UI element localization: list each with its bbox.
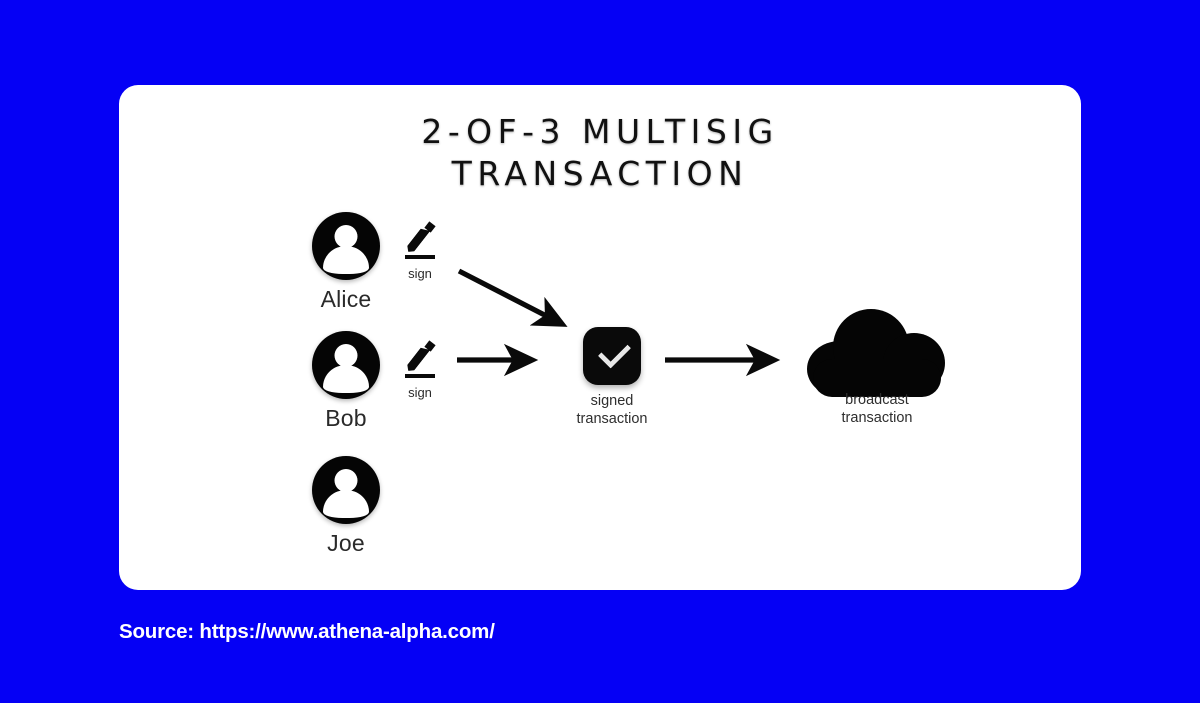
arrow-alice-to-signed: [459, 271, 562, 324]
person-avatar-icon: [312, 456, 380, 524]
signer-row-joe: Joe: [312, 456, 380, 557]
signer-row-bob: Bob: [312, 331, 380, 432]
signature-line: [405, 374, 435, 378]
pen-sign-icon: [403, 342, 437, 384]
page-title: 2-OF-3 MULTISIG TRANSACTION: [119, 111, 1081, 195]
check-square-icon: [583, 327, 641, 385]
signed-transaction-node: signed transaction: [547, 327, 677, 428]
pen-sign-icon: [403, 223, 437, 265]
diagram-card: 2-OF-3 MULTISIG TRANSACTION Alice sign B…: [119, 85, 1081, 590]
signer-name-bob: Bob: [312, 405, 380, 432]
avatar-shoulders: [323, 490, 369, 518]
person-avatar-icon: [312, 212, 380, 280]
source-caption: Source: https://www.athena-alpha.com/: [119, 620, 495, 644]
signer-name-alice: Alice: [312, 286, 380, 313]
avatar-head: [335, 225, 358, 248]
person-avatar-icon: [312, 331, 380, 399]
broadcast-caption: broadcast transaction: [787, 391, 967, 427]
sign-action-bob: sign: [397, 342, 443, 400]
sign-action-alice: sign: [397, 223, 443, 281]
signer-row-alice: Alice: [312, 212, 380, 313]
avatar-head: [335, 344, 358, 367]
signed-transaction-caption: signed transaction: [547, 392, 677, 428]
avatar-shoulders: [323, 246, 369, 274]
cloud-icon: [807, 309, 947, 397]
sign-label-bob: sign: [397, 385, 443, 400]
signer-name-joe: Joe: [312, 530, 380, 557]
broadcast-node: broadcast transaction: [787, 309, 967, 427]
signature-line: [405, 255, 435, 259]
checkmark-glyph: [598, 335, 631, 368]
sign-label-alice: sign: [397, 266, 443, 281]
avatar-head: [335, 469, 358, 492]
avatar-shoulders: [323, 365, 369, 393]
